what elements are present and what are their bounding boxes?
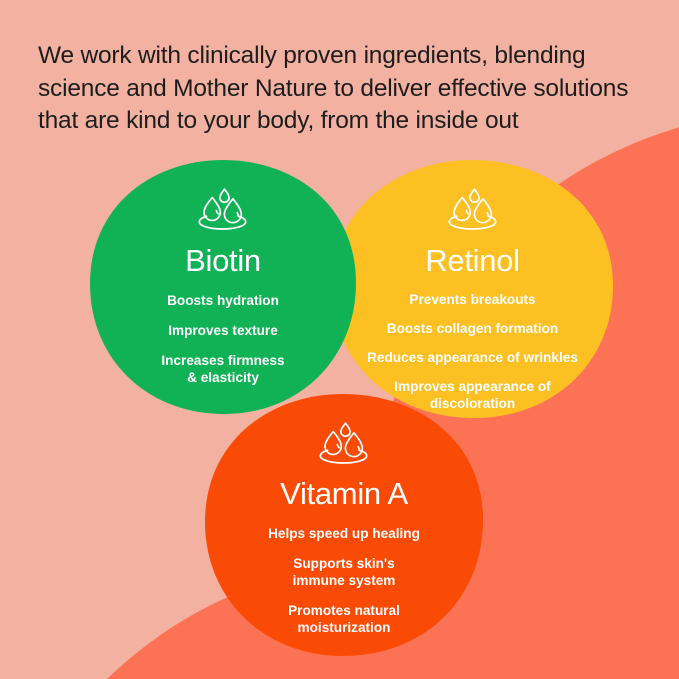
ingredient-card-biotin[interactable]: Biotin Boosts hydration Improves texture… (88, 158, 358, 416)
benefit-item: Increases firmness & elasticity (161, 352, 284, 386)
card-title-retinol: Retinol (425, 243, 519, 279)
ingredient-card-retinol[interactable]: Retinol Prevents breakouts Boosts collag… (330, 158, 615, 420)
card-title-biotin: Biotin (185, 243, 261, 279)
infographic-canvas: We work with clinically proven ingredien… (0, 0, 679, 679)
benefit-item: Boosts hydration (167, 292, 279, 309)
benefit-item: Improves texture (168, 322, 278, 339)
water-droplets-icon (444, 186, 502, 232)
page-headline: We work with clinically proven ingredien… (38, 40, 650, 138)
water-droplets-icon (315, 420, 373, 466)
water-droplets-icon (194, 186, 252, 232)
benefit-item: Reduces appearance of wrinkles (367, 349, 578, 366)
benefit-item: Promotes natural moisturization (288, 602, 400, 636)
ingredient-card-vitamin-a[interactable]: Vitamin A Helps speed up healing Support… (203, 392, 485, 658)
card-title-vitamin-a: Vitamin A (280, 476, 408, 512)
benefit-item: Helps speed up healing (268, 525, 420, 542)
benefit-item: Prevents breakouts (409, 291, 535, 308)
benefit-item: Supports skin's immune system (293, 555, 396, 589)
benefit-item: Boosts collagen formation (387, 320, 558, 337)
